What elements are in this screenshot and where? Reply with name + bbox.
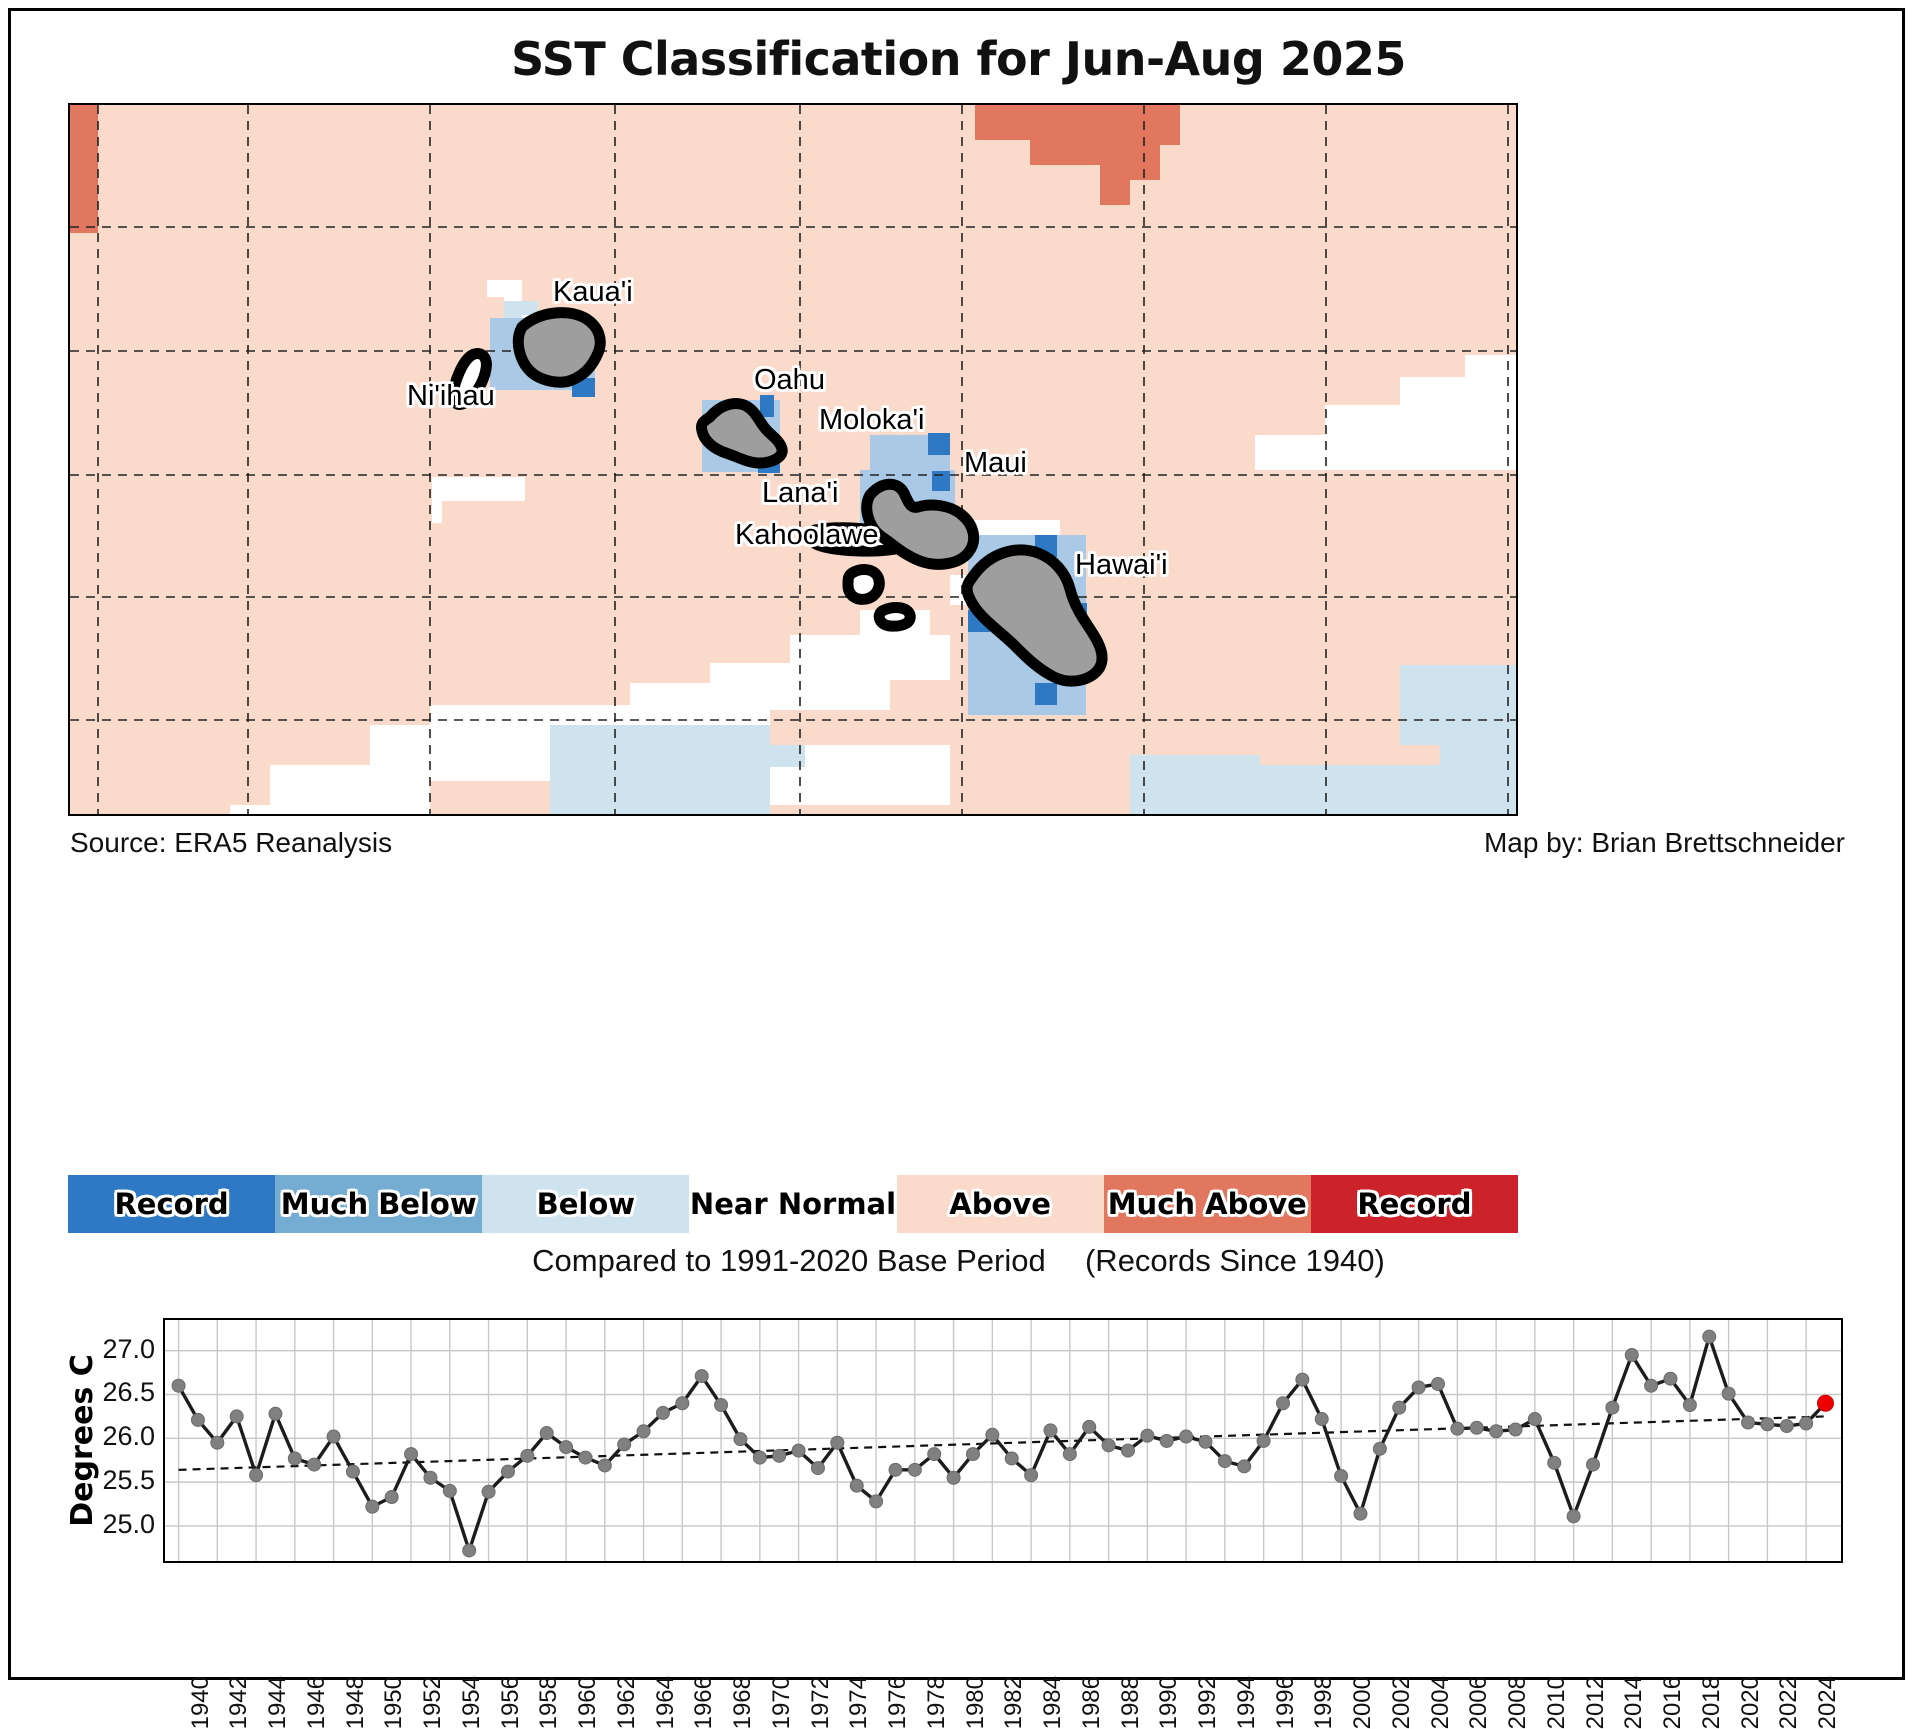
x-tick-label: 1960: [574, 1676, 602, 1729]
x-tick-label: 2024: [1814, 1676, 1842, 1729]
x-tick-label: 1988: [1117, 1676, 1145, 1729]
x-tick-label: 1954: [458, 1676, 486, 1729]
y-tick-label: 26.5: [102, 1377, 155, 1408]
x-tick-label: 2004: [1427, 1676, 1455, 1729]
x-tick-label: 1956: [497, 1676, 525, 1729]
y-tick-label: 25.0: [102, 1509, 155, 1540]
x-tick-label: 1994: [1233, 1676, 1261, 1729]
x-tick-label: 1990: [1155, 1676, 1183, 1729]
island-kahoolawe: [879, 608, 910, 627]
sst-timeseries-chart: [163, 1318, 1843, 1563]
credit-text: Map by: Brian Brettschneider: [1484, 827, 1845, 859]
legend-item-below[interactable]: Below: [482, 1175, 689, 1233]
x-tick-label: 1978: [923, 1676, 951, 1729]
map-graphic: [70, 105, 1516, 814]
x-tick-label: 1992: [1194, 1676, 1222, 1729]
x-tick-label: 1946: [303, 1676, 331, 1729]
legend-caption: Compared to 1991-2020 Base Period (Recor…: [0, 1243, 1917, 1279]
legend-item-much-above[interactable]: Much Above: [1104, 1175, 1311, 1233]
x-tick-label: 1986: [1078, 1676, 1106, 1729]
x-tick-label: 1966: [690, 1676, 718, 1729]
x-tick-label: 1948: [342, 1676, 370, 1729]
x-axis-ticks: 1940194219441946194819501952195419561958…: [163, 1568, 1843, 1678]
x-tick-label: 2000: [1349, 1676, 1377, 1729]
legend-label: Near Normal: [690, 1187, 896, 1221]
x-tick-label: 1952: [419, 1676, 447, 1729]
island-label-niihau: Ni'ihau: [407, 380, 495, 413]
x-tick-label: 1996: [1272, 1676, 1300, 1729]
legend-item-record-above[interactable]: Record: [1311, 1175, 1518, 1233]
x-tick-label: 2016: [1659, 1676, 1687, 1729]
x-tick-label: 2006: [1465, 1676, 1493, 1729]
x-tick-label: 1962: [613, 1676, 641, 1729]
x-tick-label: 1970: [768, 1676, 796, 1729]
x-tick-label: 1958: [535, 1676, 563, 1729]
x-tick-label: 1972: [807, 1676, 835, 1729]
legend-caption-records: (Records Since 1940): [1085, 1243, 1385, 1278]
island-label-hawaii: Hawai'i: [1075, 549, 1168, 582]
legend-label: Much Below: [281, 1187, 477, 1221]
y-tick-label: 25.5: [102, 1465, 155, 1496]
legend-caption-baseline: Compared to 1991-2020 Base Period: [532, 1243, 1046, 1278]
legend-label: Below: [537, 1187, 635, 1221]
y-axis-ticks: 25.025.526.026.527.0: [95, 1318, 155, 1563]
x-tick-label: 1984: [1039, 1676, 1067, 1729]
legend-label: Above: [949, 1187, 1051, 1221]
legend-item-near-normal[interactable]: Near Normal: [689, 1175, 896, 1233]
x-tick-label: 1976: [884, 1676, 912, 1729]
legend-label: Record: [1357, 1187, 1471, 1221]
x-tick-label: 1982: [1000, 1676, 1028, 1729]
x-tick-label: 2008: [1504, 1676, 1532, 1729]
x-tick-label: 1964: [652, 1676, 680, 1729]
island-label-kauai: Kaua'i: [553, 276, 633, 309]
x-tick-label: 1968: [729, 1676, 757, 1729]
x-tick-label: 2018: [1698, 1676, 1726, 1729]
sst-map: Kaua'i Ni'ihau Oahu Moloka'i Maui Lana'i…: [68, 103, 1518, 816]
island-label-maui: Maui: [964, 447, 1027, 480]
legend-label: Much Above: [1108, 1187, 1307, 1221]
x-tick-label: 2012: [1582, 1676, 1610, 1729]
x-tick-label: 1980: [962, 1676, 990, 1729]
island-kauai: [518, 313, 600, 382]
legend-item-above[interactable]: Above: [897, 1175, 1104, 1233]
island-lanai: [848, 570, 879, 600]
island-label-molokai: Moloka'i: [819, 404, 924, 437]
legend-label: Record: [114, 1187, 228, 1221]
source-text: Source: ERA5 Reanalysis: [70, 827, 392, 859]
x-tick-label: 1950: [380, 1676, 408, 1729]
x-tick-label: 1998: [1310, 1676, 1338, 1729]
x-tick-label: 2022: [1775, 1676, 1803, 1729]
classification-legend: Record Much Below Below Near Normal Abov…: [68, 1175, 1518, 1233]
x-tick-label: 1942: [225, 1676, 253, 1729]
x-tick-label: 2014: [1620, 1676, 1648, 1729]
x-tick-label: 1940: [187, 1676, 215, 1729]
island-label-lanai: Lana'i: [762, 477, 839, 510]
x-tick-label: 2002: [1388, 1676, 1416, 1729]
page-title: SST Classification for Jun-Aug 2025: [0, 32, 1917, 86]
legend-item-much-below[interactable]: Much Below: [275, 1175, 482, 1233]
island-label-oahu: Oahu: [754, 364, 825, 397]
y-tick-label: 26.0: [102, 1421, 155, 1452]
x-tick-label: 2010: [1543, 1676, 1571, 1729]
legend-item-record-below[interactable]: Record: [68, 1175, 275, 1233]
timeseries-graphic: [165, 1320, 1841, 1561]
x-tick-label: 1974: [845, 1676, 873, 1729]
y-tick-label: 27.0: [102, 1334, 155, 1365]
x-tick-label: 1944: [264, 1676, 292, 1729]
x-tick-label: 2020: [1737, 1676, 1765, 1729]
island-label-kahoolawe: Kahoolawe: [735, 519, 879, 552]
